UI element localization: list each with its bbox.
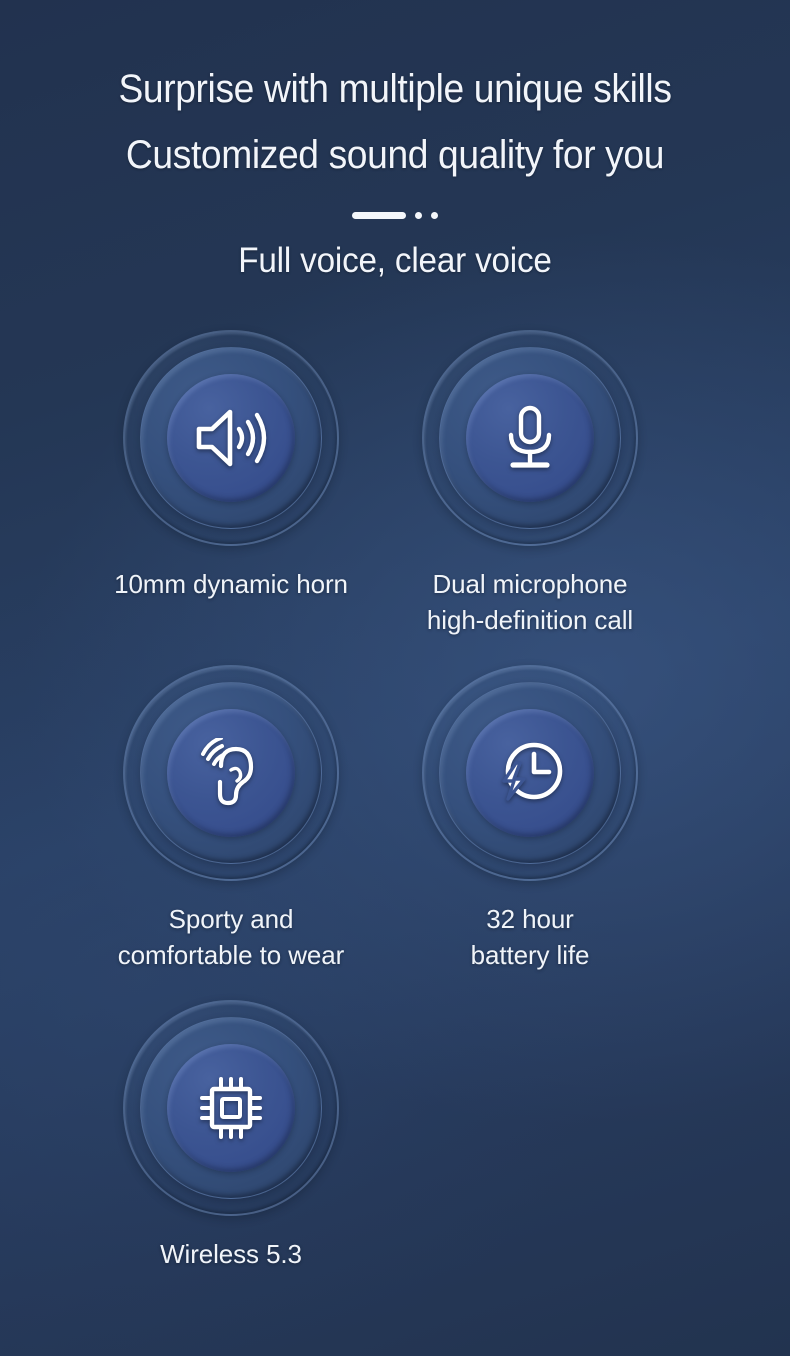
feature-badge [123, 330, 339, 546]
sub-headline: Full voice, clear voice [20, 236, 771, 286]
clock-lightning-icon [494, 739, 566, 807]
divider-bar [352, 212, 406, 219]
dash-dot-dot-divider-icon [0, 200, 790, 230]
feature-badge [123, 665, 339, 881]
feature-caption: Sporty and comfortable to wear [66, 901, 396, 973]
feature-caption: 32 hour battery life [365, 901, 695, 973]
badge-inner-disc [466, 709, 594, 837]
feature-badge [422, 665, 638, 881]
badge-inner-disc [167, 374, 295, 502]
badge-inner-disc [167, 1044, 295, 1172]
divider-dot-1 [415, 212, 422, 219]
feature-badge [422, 330, 638, 546]
headline-line-1: Surprise with multiple unique skills [28, 56, 763, 122]
feature-dynamic-horn: 10mm dynamic horn [66, 330, 396, 602]
feature-dual-microphone: Dual microphone high-definition call [365, 330, 695, 638]
badge-inner-disc [466, 374, 594, 502]
ear-hearing-icon [197, 738, 265, 808]
cpu-chip-icon [196, 1073, 266, 1143]
feature-battery-life: 32 hour battery life [365, 665, 695, 973]
feature-caption: Dual microphone high-definition call [365, 566, 695, 638]
feature-wireless-version: Wireless 5.3 [66, 1000, 396, 1272]
headline-line-2: Customized sound quality for you [28, 122, 763, 188]
feature-caption: Wireless 5.3 [66, 1236, 396, 1272]
feature-grid: 10mm dynamic horn Dual microphone high-d… [0, 330, 790, 1356]
microphone-icon [500, 404, 560, 472]
feature-badge [123, 1000, 339, 1216]
feature-comfortable-wear: Sporty and comfortable to wear [66, 665, 396, 973]
product-feature-poster: Surprise with multiple unique skills Cus… [0, 0, 790, 1356]
divider-dot-2 [431, 212, 438, 219]
poster-header: Surprise with multiple unique skills Cus… [0, 0, 790, 286]
feature-caption: 10mm dynamic horn [66, 566, 396, 602]
badge-inner-disc [167, 709, 295, 837]
speaker-volume-icon [194, 407, 268, 469]
